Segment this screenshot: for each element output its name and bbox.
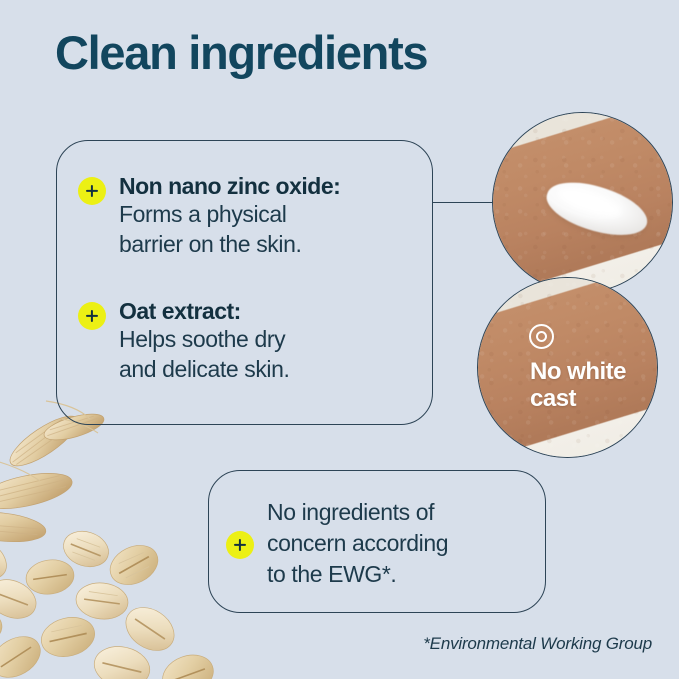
ingredient-text-block: Oat extract: Helps soothe dry and delica… <box>119 297 290 385</box>
ingredient-body-line-2: barrier on the skin. <box>119 230 340 260</box>
ewg-body-line-1: No ingredients of <box>267 497 448 528</box>
footnote: *Environmental Working Group <box>423 634 652 654</box>
ewg-item: No ingredients of concern according to t… <box>226 497 448 590</box>
plus-badge-icon <box>78 177 106 205</box>
no-white-cast-caption-line-2: cast <box>530 385 648 412</box>
page-title: Clean ingredients <box>55 28 427 77</box>
ingredient-body-line-2: and delicate skin. <box>119 355 290 385</box>
plus-badge-icon <box>78 302 106 330</box>
ewg-body-line-3: to the EWG*. <box>267 559 448 590</box>
no-white-cast-photo-inner: No white cast <box>478 278 657 457</box>
cream-swatch-photo <box>492 112 673 293</box>
concentric-ring-icon <box>529 324 554 349</box>
ewg-text-block: No ingredients of concern according to t… <box>267 497 448 590</box>
plus-badge-icon <box>226 531 254 559</box>
ingredient-item-oat-extract: Oat extract: Helps soothe dry and delica… <box>78 297 290 385</box>
ingredient-heading: Non nano zinc oxide: <box>119 173 340 199</box>
ewg-body-line-2: concern according <box>267 528 448 559</box>
oat-grains-illustration <box>0 399 232 679</box>
ingredient-body-line-1: Forms a physical <box>119 200 340 230</box>
infographic-canvas: Clean ingredients Non nano zinc oxide: F… <box>0 0 679 679</box>
oat-flake-group <box>0 526 219 679</box>
card-to-photo-connector <box>433 202 495 203</box>
ingredient-heading: Oat extract: <box>119 298 241 324</box>
no-white-cast-caption-line-1: No white <box>530 358 648 385</box>
no-white-cast-photo: No white cast <box>477 277 658 458</box>
cream-swatch-photo-inner <box>493 113 672 292</box>
ingredient-body-line-1: Helps soothe dry <box>119 325 290 355</box>
no-white-cast-caption: No white cast <box>530 358 648 412</box>
ingredient-item-zinc-oxide: Non nano zinc oxide: Forms a physical ba… <box>78 172 340 260</box>
ingredient-text-block: Non nano zinc oxide: Forms a physical ba… <box>119 172 340 260</box>
